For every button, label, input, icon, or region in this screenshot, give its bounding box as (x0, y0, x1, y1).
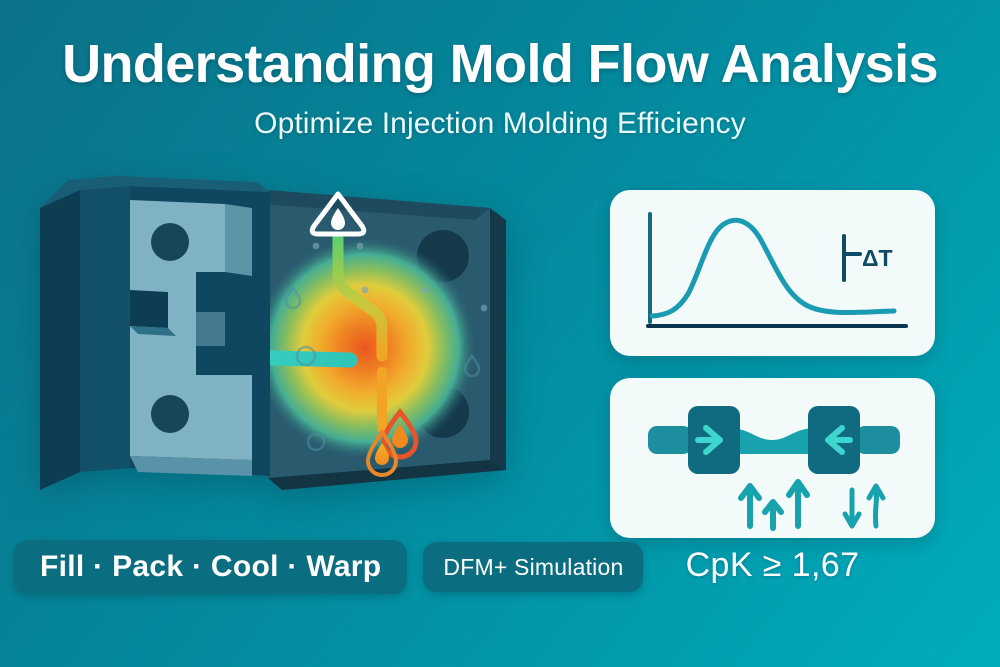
badge-process-phases[interactable]: Fill · Pack · Cool · Warp (14, 540, 407, 594)
cpk-metric-label: CpK ≥ 1,67 (610, 546, 935, 585)
header: Understanding Mold Flow Analysis Optimiz… (0, 0, 1000, 141)
warpage-arrows-up (741, 482, 807, 528)
mold-slot (130, 290, 168, 328)
left-clamp-block (688, 406, 740, 474)
page-subtitle: Optimize Injection Molding Efficiency (0, 107, 1000, 141)
delta-t-annotation: ΔT (844, 236, 893, 280)
right-clamp-block (808, 406, 860, 474)
left-rail (648, 426, 692, 454)
bolt-hole (151, 395, 189, 433)
right-rail (856, 426, 900, 454)
badge-row: Fill · Pack · Cool · Warp DFM+ Simulatio… (14, 540, 643, 594)
pressure-flow-curve-card: ΔT (610, 190, 935, 356)
warpage-arrows-mixed (845, 486, 883, 526)
delta-t-label: ΔT (862, 245, 893, 271)
clamp-warpage-card (610, 378, 935, 538)
pressure-curve (652, 220, 894, 316)
bolt-hole (151, 223, 189, 261)
page-title: Understanding Mold Flow Analysis (0, 36, 1000, 93)
thermal-heatmap (253, 236, 477, 460)
mold-left-half (40, 176, 270, 490)
injection-mold-illustration (20, 160, 520, 520)
